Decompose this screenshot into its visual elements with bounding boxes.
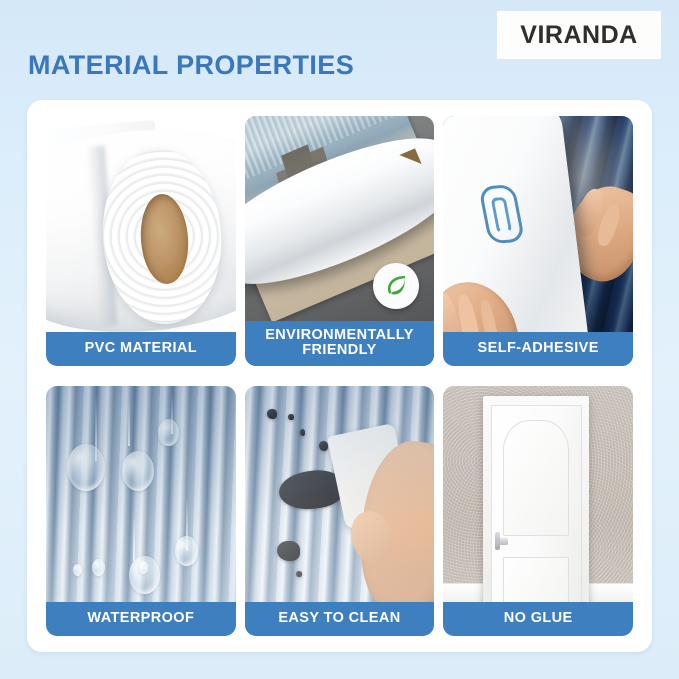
brand-badge: VIRANDA	[497, 11, 661, 59]
stain-mark	[277, 541, 300, 561]
feature-tile-waterproof[interactable]: WATERPROOF	[46, 386, 236, 636]
pvc-roll-image	[46, 116, 236, 366]
feature-tile-no-glue[interactable]: NO GLUE	[443, 386, 633, 636]
stain-mark	[296, 571, 302, 577]
stain-mark	[277, 467, 346, 513]
cleaning-cloth	[327, 422, 414, 529]
feature-label-easy-to-clean: EASY TO CLEAN	[245, 602, 435, 636]
water-droplet	[129, 556, 159, 594]
page-title: MATERIAL PROPERTIES	[28, 50, 354, 81]
thumb	[346, 506, 398, 567]
water-droplet	[122, 451, 154, 491]
door-handle	[497, 538, 508, 545]
features-grid: PVC MATERIAL ENVIRONMENTALLY FRIENDLY	[46, 116, 633, 636]
features-card: PVC MATERIAL ENVIRONMENTALLY FRIENDLY	[27, 100, 652, 652]
door-frame	[483, 396, 589, 616]
feature-label-no-glue: NO GLUE	[443, 602, 633, 636]
infographic-page: VIRANDA MATERIAL PROPERTIES PVC MATERIAL	[0, 0, 679, 679]
no-glue-door-image	[443, 386, 633, 636]
door-leaf	[491, 405, 582, 614]
feature-label-self-adhesive: SELF-ADHESIVE	[443, 332, 633, 366]
feature-tile-self-adhesive[interactable]: SELF-ADHESIVE	[443, 116, 633, 366]
water-droplet	[175, 536, 198, 566]
self-adhesive-image	[443, 116, 633, 366]
stain-mark	[300, 429, 306, 437]
door-panel-bottom	[503, 557, 569, 607]
easy-to-clean-image	[245, 386, 435, 636]
paperclip-icon	[479, 184, 526, 244]
feature-label-environmentally-friendly: ENVIRONMENTALLY FRIENDLY	[245, 321, 435, 366]
water-trail	[95, 391, 97, 461]
water-droplet	[67, 444, 105, 492]
leaf-icon	[373, 263, 419, 309]
brand-name: VIRANDA	[520, 21, 637, 50]
door-panel-top	[503, 420, 569, 536]
water-trail	[171, 394, 173, 434]
water-trail	[186, 496, 188, 551]
stain-mark	[288, 414, 294, 420]
waterproof-image	[46, 386, 236, 636]
feature-tile-environmentally-friendly[interactable]: ENVIRONMENTALLY FRIENDLY	[245, 116, 435, 366]
water-trail	[128, 396, 130, 446]
water-trail	[133, 511, 135, 561]
water-droplet	[158, 419, 179, 447]
feature-label-waterproof: WATERPROOF	[46, 602, 236, 636]
hand-holding-cloth	[352, 436, 434, 621]
feature-tile-pvc-material[interactable]: PVC MATERIAL	[46, 116, 236, 366]
water-droplet	[73, 564, 82, 577]
feature-label-pvc-material: PVC MATERIAL	[46, 332, 236, 366]
water-droplet	[92, 559, 105, 577]
water-droplet	[139, 561, 148, 574]
stain-mark	[319, 441, 328, 451]
stain-mark	[267, 409, 276, 419]
feature-tile-easy-to-clean[interactable]: EASY TO CLEAN	[245, 386, 435, 636]
